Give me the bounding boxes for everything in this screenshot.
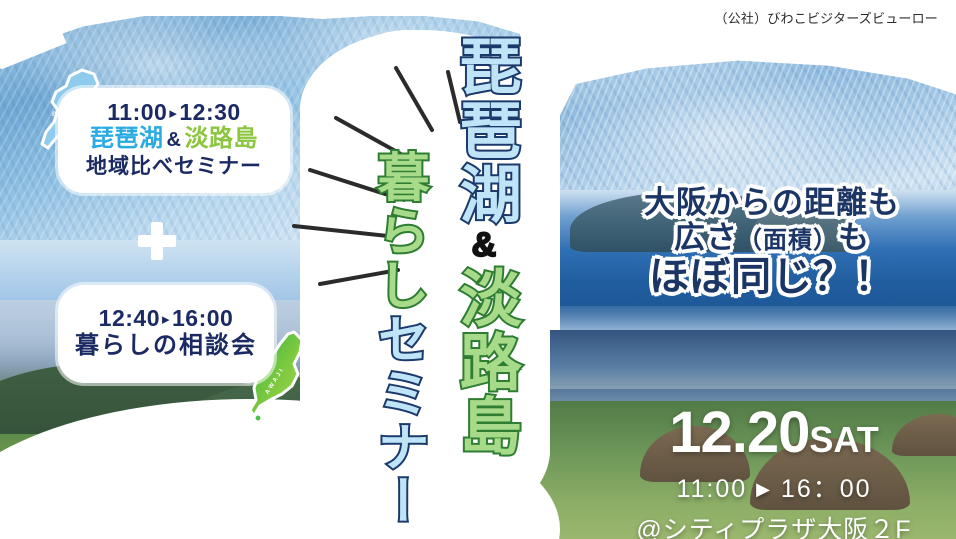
headline-line-2-a: 広さ [674,220,738,255]
session-2-time-start: 12:40 [99,305,160,331]
session-1-regions: 琵琶湖&淡路島 [68,125,280,154]
title-kurashi: 暮らし [369,150,427,312]
headline-line-2-b: も [838,220,870,255]
event-time-end: 16：00 [781,475,872,503]
session-1-time: 11:00▸12:30 [68,99,280,125]
event-details-block: 12.20SAT 11:00 ▶ 16：00 @シティプラザ大阪２F [600,404,948,539]
title-ampersand: & [465,226,503,266]
session-1-region-amp: & [164,129,185,151]
title-awaji: 淡路島 [450,266,519,458]
session-1-time-end: 12:30 [179,99,240,125]
event-date-number: 12.20 [669,400,809,465]
headline-line-3: ほぼ同じ？！ [596,255,948,300]
session-2-subtitle: 暮らしの相談会 [68,331,264,361]
session-2-time: 12:40▸16:00 [68,305,264,331]
time-arrow-icon: ▶ [756,479,772,499]
organizer-credit: （公社）びわこビジターズビューロー [715,8,939,27]
poster-canvas: （公社）びわこビジターズビューロー BIWAKO AWAJI 11:00▸12:… [0,0,956,539]
headline-line-2-paren: （面積） [738,227,838,254]
title-biwako: 琵琶湖 [450,34,519,226]
sky-layer [500,330,956,393]
event-time-start: 11:00 [676,475,747,503]
poster-title-main: 琵琶湖&淡路島 [452,34,516,458]
event-weekday: SAT [809,419,878,460]
headline-block: 大阪からの距離も 広さ（面積）も ほぼ同じ？！ [596,186,948,300]
time-arrow-icon: ▸ [167,105,179,122]
headline-line-2: 広さ（面積）も [596,221,948,256]
event-venue: @シティプラザ大阪２F [600,510,948,539]
time-arrow-icon: ▸ [160,311,172,328]
event-date: 12.20SAT [600,404,948,462]
session-card-afternoon[interactable]: 12:40▸16:00 暮らしの相談会 [58,285,274,383]
session-1-subtitle: 地域比べセミナー [68,154,280,180]
session-1-region-awaji: 淡路島 [184,125,258,152]
headline-line-1: 大阪からの距離も [596,186,948,221]
session-card-morning[interactable]: 11:00▸12:30 琵琶湖&淡路島 地域比べセミナー [58,88,290,193]
session-1-region-biwako: 琵琶湖 [90,125,164,152]
event-time: 11:00 ▶ 16：00 [600,469,948,505]
session-2-time-end: 16:00 [172,305,233,331]
session-1-time-start: 11:00 [107,99,167,125]
poster-title-sub: 暮らしセミナー [370,150,425,528]
plus-icon [138,222,176,260]
title-seminar: セミナー [369,312,427,528]
